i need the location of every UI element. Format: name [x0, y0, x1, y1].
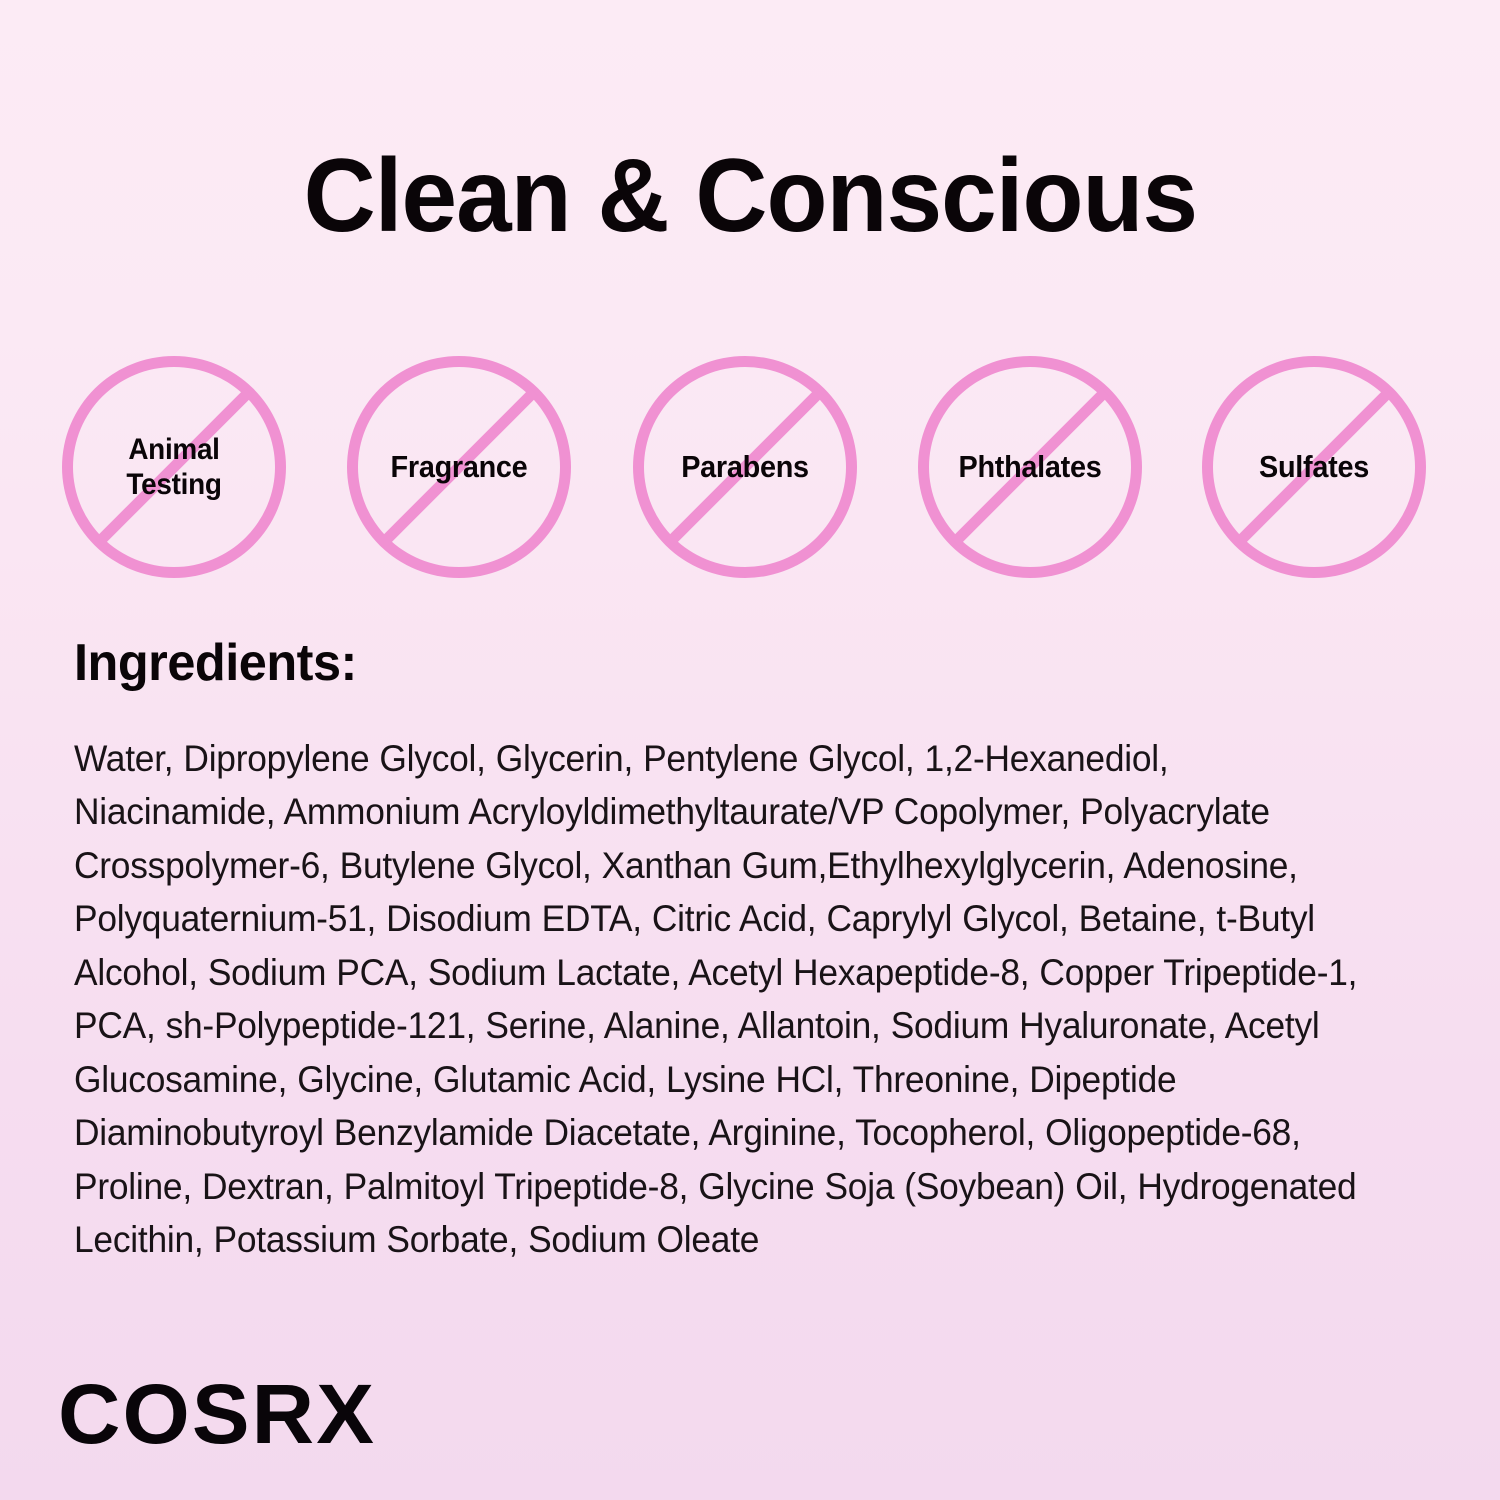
badge-animal-testing: AnimalTesting — [62, 356, 286, 578]
badge-label: Fragrance — [355, 356, 563, 578]
badge-label: Sulfates — [1210, 356, 1418, 578]
page-title-text: Clean & Conscious — [303, 142, 1197, 251]
badge-label: Phthalates — [926, 356, 1134, 578]
ingredients-section: Ingredients: Water, Dipropylene Glycol, … — [74, 634, 1434, 1267]
free-from-badge-row: AnimalTesting Fragrance Parabens Phthala… — [62, 356, 1442, 582]
badge-label: AnimalTesting — [70, 356, 278, 578]
ingredients-list-text: Water, Dipropylene Glycol, Glycerin, Pen… — [74, 732, 1368, 1267]
badge-label: Parabens — [641, 356, 849, 578]
cosrx-logo: COSRX — [58, 1372, 376, 1456]
badge-sulfates: Sulfates — [1202, 356, 1426, 578]
page-title: Clean & Conscious — [0, 142, 1500, 251]
badge-parabens: Parabens — [633, 356, 857, 578]
badge-fragrance: Fragrance — [347, 356, 571, 578]
badge-phthalates: Phthalates — [918, 356, 1142, 578]
ingredients-heading: Ingredients: — [74, 634, 1393, 694]
